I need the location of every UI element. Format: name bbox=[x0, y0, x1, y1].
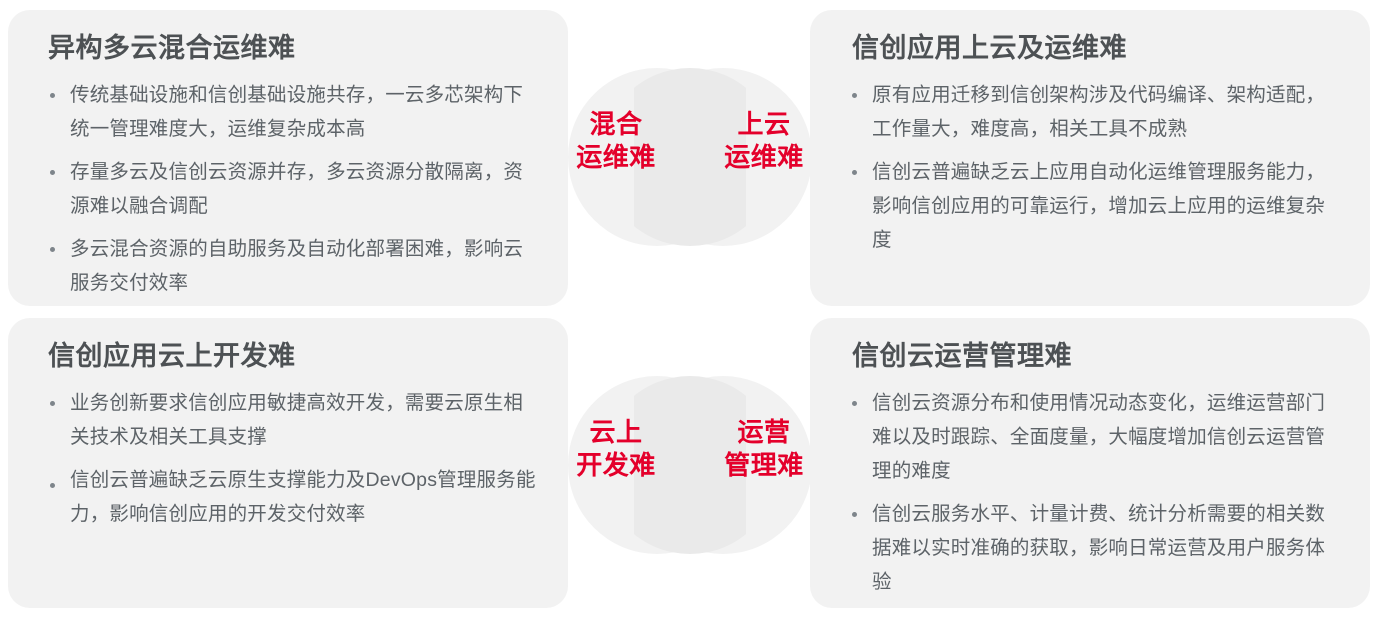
card-cloud-development: 信创应用云上开发难 业务创新要求信创应用敏捷高效开发，需要云原生相关技术及相关工… bbox=[8, 318, 568, 608]
list-item: 信创云资源分布和使用情况动态变化，运维运营部门难以及时跟踪、全面度量，大幅度增加… bbox=[848, 386, 1344, 488]
row-bottom: 信创应用云上开发难 业务创新要求信创应用敏捷高效开发，需要云原生相关技术及相关工… bbox=[0, 318, 1378, 614]
venn-diagram-top: 混合 运维难 上云 运维难 bbox=[560, 10, 820, 306]
bullet-list: 原有应用迁移到信创架构涉及代码编译、架构适配，工作量大，难度高，相关工具不成熟 … bbox=[848, 78, 1344, 257]
list-item: 传统基础设施和信创基础设施共存，一云多芯架构下统一管理难度大，运维复杂成本高 bbox=[46, 78, 542, 146]
list-item-text: 原有应用迁移到信创架构涉及代码编译、架构适配，工作量大，难度高，相关工具不成熟 bbox=[872, 84, 1325, 140]
bullet-dot-icon bbox=[50, 247, 55, 252]
row-top: 异构多云混合运维难 传统基础设施和信创基础设施共存，一云多芯架构下统一管理难度大… bbox=[0, 10, 1378, 306]
venn-diagram-bottom: 云上 开发难 运营 管理难 bbox=[560, 318, 820, 614]
bullet-dot-icon bbox=[852, 93, 857, 98]
list-item: 信创云服务水平、计量计费、统计分析需要的相关数据难以实时准确的获取，影响日常运营… bbox=[848, 497, 1344, 599]
bullet-dot-icon bbox=[50, 483, 55, 488]
card-heterogeneous-multicloud-ops: 异构多云混合运维难 传统基础设施和信创基础设施共存，一云多芯架构下统一管理难度大… bbox=[8, 10, 568, 306]
list-item-text: 业务创新要求信创应用敏捷高效开发，需要云原生相关技术及相关工具支撑 bbox=[70, 392, 523, 448]
list-item-text: 多云混合资源的自助服务及自动化部署困难，影响云服务交付效率 bbox=[70, 238, 523, 294]
list-item-text: 信创云普遍缺乏云原生支撑能力及DevOps管理服务能力，影响信创应用的开发交付效… bbox=[70, 469, 536, 525]
venn-label-right: 运营 管理难 bbox=[704, 416, 824, 482]
venn-label-left: 云上 开发难 bbox=[556, 416, 676, 482]
list-item-text: 传统基础设施和信创基础设施共存，一云多芯架构下统一管理难度大，运维复杂成本高 bbox=[70, 84, 523, 140]
card-title: 信创应用上云及运维难 bbox=[852, 32, 1344, 64]
card-cloud-operations-management: 信创云运营管理难 信创云资源分布和使用情况动态变化，运维运营部门难以及时跟踪、全… bbox=[810, 318, 1370, 608]
bullet-dot-icon bbox=[50, 401, 55, 406]
list-item-text: 信创云资源分布和使用情况动态变化，运维运营部门难以及时跟踪、全面度量，大幅度增加… bbox=[872, 392, 1325, 482]
bullet-list: 信创云资源分布和使用情况动态变化，运维运营部门难以及时跟踪、全面度量，大幅度增加… bbox=[848, 386, 1344, 599]
list-item-text: 信创云服务水平、计量计费、统计分析需要的相关数据难以实时准确的获取，影响日常运营… bbox=[872, 503, 1325, 593]
card-title: 异构多云混合运维难 bbox=[48, 32, 542, 64]
card-title: 信创应用云上开发难 bbox=[48, 340, 542, 372]
bullet-dot-icon bbox=[50, 93, 55, 98]
venn-label-left: 混合 运维难 bbox=[556, 108, 676, 174]
bullet-dot-icon bbox=[852, 401, 857, 406]
bullet-list: 业务创新要求信创应用敏捷高效开发，需要云原生相关技术及相关工具支撑 信创云普遍缺… bbox=[46, 386, 542, 531]
diagram-board: 异构多云混合运维难 传统基础设施和信创基础设施共存，一云多芯架构下统一管理难度大… bbox=[0, 0, 1378, 620]
bullet-dot-icon bbox=[50, 170, 55, 175]
list-item: 业务创新要求信创应用敏捷高效开发，需要云原生相关技术及相关工具支撑 bbox=[46, 386, 542, 454]
list-item: 信创云普遍缺乏云上应用自动化运维管理服务能力，影响信创应用的可靠运行，增加云上应… bbox=[848, 155, 1344, 257]
bullet-dot-icon bbox=[852, 170, 857, 175]
list-item: 原有应用迁移到信创架构涉及代码编译、架构适配，工作量大，难度高，相关工具不成熟 bbox=[848, 78, 1344, 146]
card-app-migration-ops: 信创应用上云及运维难 原有应用迁移到信创架构涉及代码编译、架构适配，工作量大，难… bbox=[810, 10, 1370, 306]
bullet-list: 传统基础设施和信创基础设施共存，一云多芯架构下统一管理难度大，运维复杂成本高 存… bbox=[46, 78, 542, 300]
card-title: 信创云运营管理难 bbox=[852, 340, 1344, 372]
list-item: 信创云普遍缺乏云原生支撑能力及DevOps管理服务能力，影响信创应用的开发交付效… bbox=[46, 463, 542, 531]
list-item-text: 存量多云及信创云资源并存，多云资源分散隔离，资源难以融合调配 bbox=[70, 161, 523, 217]
venn-label-right: 上云 运维难 bbox=[704, 108, 824, 174]
list-item-text: 信创云普遍缺乏云上应用自动化运维管理服务能力，影响信创应用的可靠运行，增加云上应… bbox=[872, 161, 1325, 251]
bullet-dot-icon bbox=[852, 512, 857, 517]
list-item: 存量多云及信创云资源并存，多云资源分散隔离，资源难以融合调配 bbox=[46, 155, 542, 223]
list-item: 多云混合资源的自助服务及自动化部署困难，影响云服务交付效率 bbox=[46, 232, 542, 300]
